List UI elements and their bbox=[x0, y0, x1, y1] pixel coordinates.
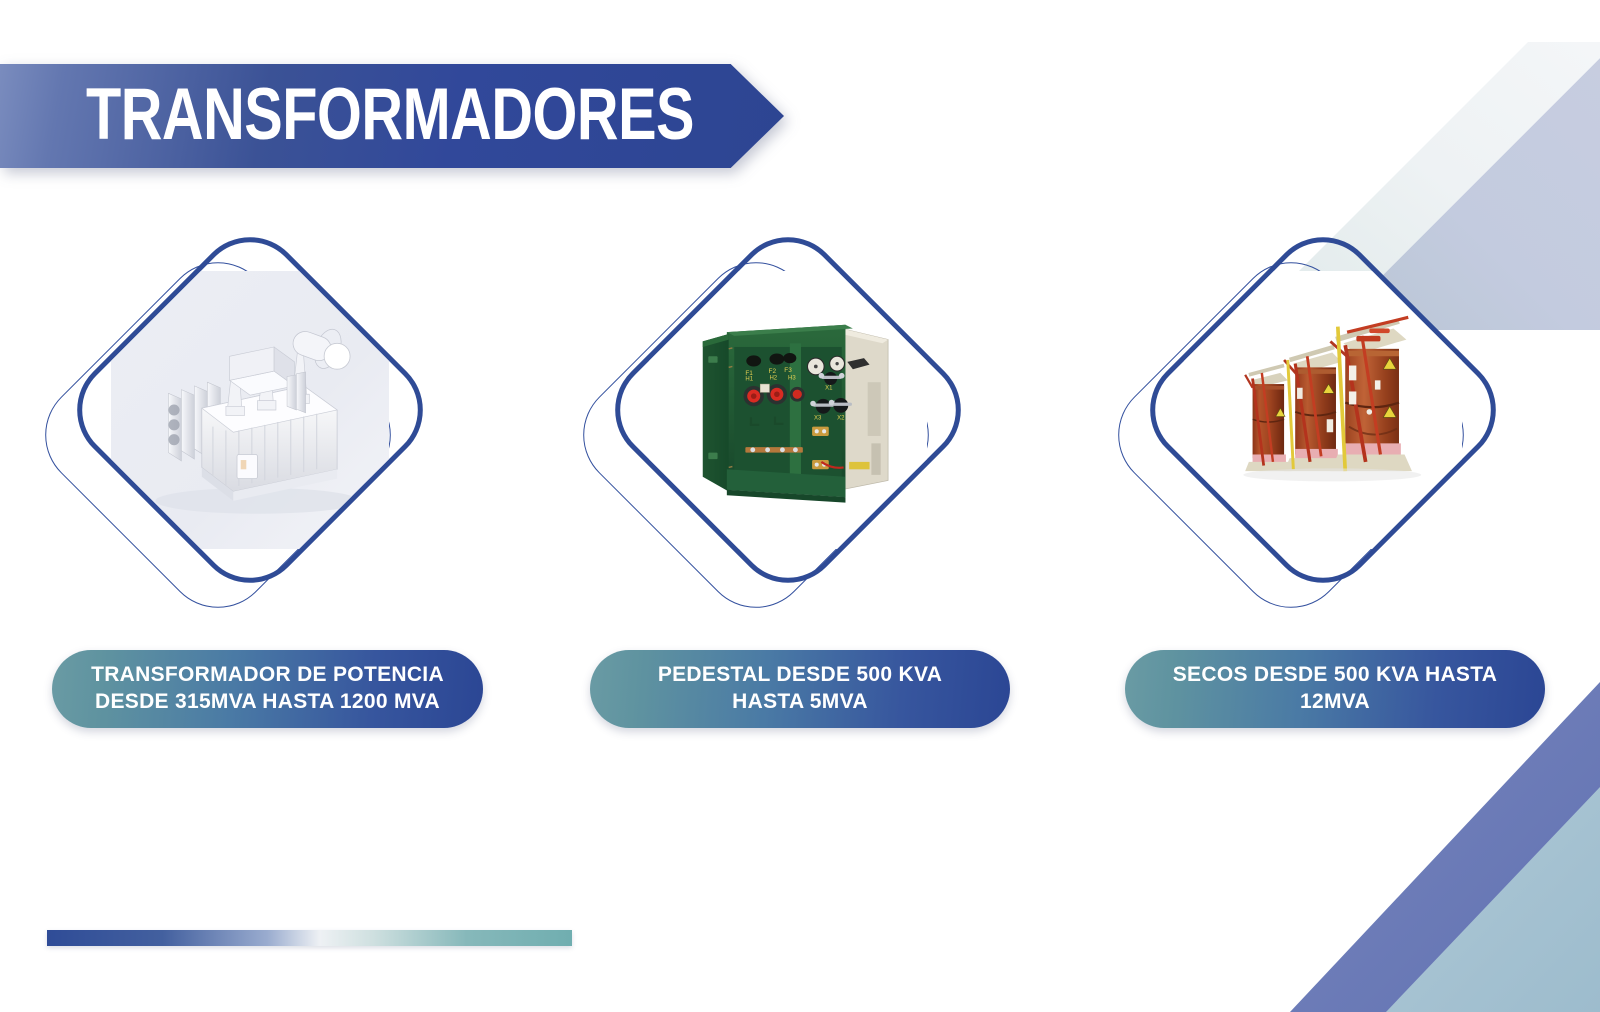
photo-pedestal-transformer: F1 F2 F3 bbox=[649, 271, 927, 549]
slide-canvas: TRANSFORMADORES bbox=[0, 0, 1600, 1012]
photo-power-transformer bbox=[111, 271, 389, 549]
diamond-photo-clip: F1 F2 F3 bbox=[649, 271, 927, 549]
caption-line-1: TRANSFORMADOR DE POTENCIA bbox=[91, 663, 444, 686]
caption-line-2: HASTA 5MVA bbox=[732, 690, 868, 713]
page-title: TRANSFORMADORES bbox=[86, 79, 740, 150]
caption-pill-dry-transformer: SECOS DESDE 500 KVA HASTA 12MVA bbox=[1125, 650, 1545, 728]
bottom-accent-bar bbox=[47, 930, 572, 946]
svg-text:X3: X3 bbox=[814, 415, 822, 421]
diamond-photo-clip bbox=[111, 271, 389, 549]
diamond-frame-dry-transformer bbox=[1128, 215, 1518, 605]
slide-title-banner: TRANSFORMADORES bbox=[0, 64, 784, 168]
svg-text:F2: F2 bbox=[769, 368, 777, 375]
caption-line-1: PEDESTAL DESDE 500 KVA bbox=[658, 663, 942, 686]
diamond-outline-thick bbox=[55, 215, 445, 605]
svg-text:H2: H2 bbox=[769, 375, 777, 381]
diamond-outline-thick bbox=[1128, 215, 1518, 605]
page-title-text: TRANSFORMADORES bbox=[86, 73, 694, 157]
photo-dry-transformer bbox=[1184, 271, 1462, 549]
svg-text:F3: F3 bbox=[784, 367, 792, 374]
card-power-transformer: TRANSFORMADOR DE POTENCIA DESDE 315MVA H… bbox=[45, 215, 495, 735]
diamond-frame-power-transformer bbox=[55, 215, 445, 605]
caption-line-2: DESDE 315MVA HASTA 1200 MVA bbox=[95, 690, 440, 713]
caption-pill-power-transformer: TRANSFORMADOR DE POTENCIA DESDE 315MVA H… bbox=[52, 650, 483, 728]
caption-text-pedestal-transformer: PEDESTAL DESDE 500 KVA HASTA 5MVA bbox=[658, 662, 942, 716]
caption-text-power-transformer: TRANSFORMADOR DE POTENCIA DESDE 315MVA H… bbox=[91, 662, 444, 716]
svg-text:H1: H1 bbox=[745, 376, 753, 382]
caption-line-2: 12MVA bbox=[1300, 690, 1370, 713]
caption-pill-pedestal-transformer: PEDESTAL DESDE 500 KVA HASTA 5MVA bbox=[590, 650, 1010, 728]
svg-text:X1: X1 bbox=[825, 386, 833, 392]
caption-line-1: SECOS DESDE 500 KVA HASTA bbox=[1173, 663, 1498, 686]
diamond-frame-pedestal-transformer: F1 F2 F3 bbox=[593, 215, 983, 605]
card-dry-transformer: SECOS DESDE 500 KVA HASTA 12MVA bbox=[1118, 215, 1568, 735]
caption-text-dry-transformer: SECOS DESDE 500 KVA HASTA 12MVA bbox=[1173, 662, 1498, 716]
svg-text:H3: H3 bbox=[788, 375, 796, 381]
diamond-photo-clip bbox=[1184, 271, 1462, 549]
diamond-outline-thick: F1 F2 F3 bbox=[593, 215, 983, 605]
card-pedestal-transformer: F1 F2 F3 bbox=[583, 215, 1033, 735]
svg-text:X2: X2 bbox=[837, 415, 845, 421]
